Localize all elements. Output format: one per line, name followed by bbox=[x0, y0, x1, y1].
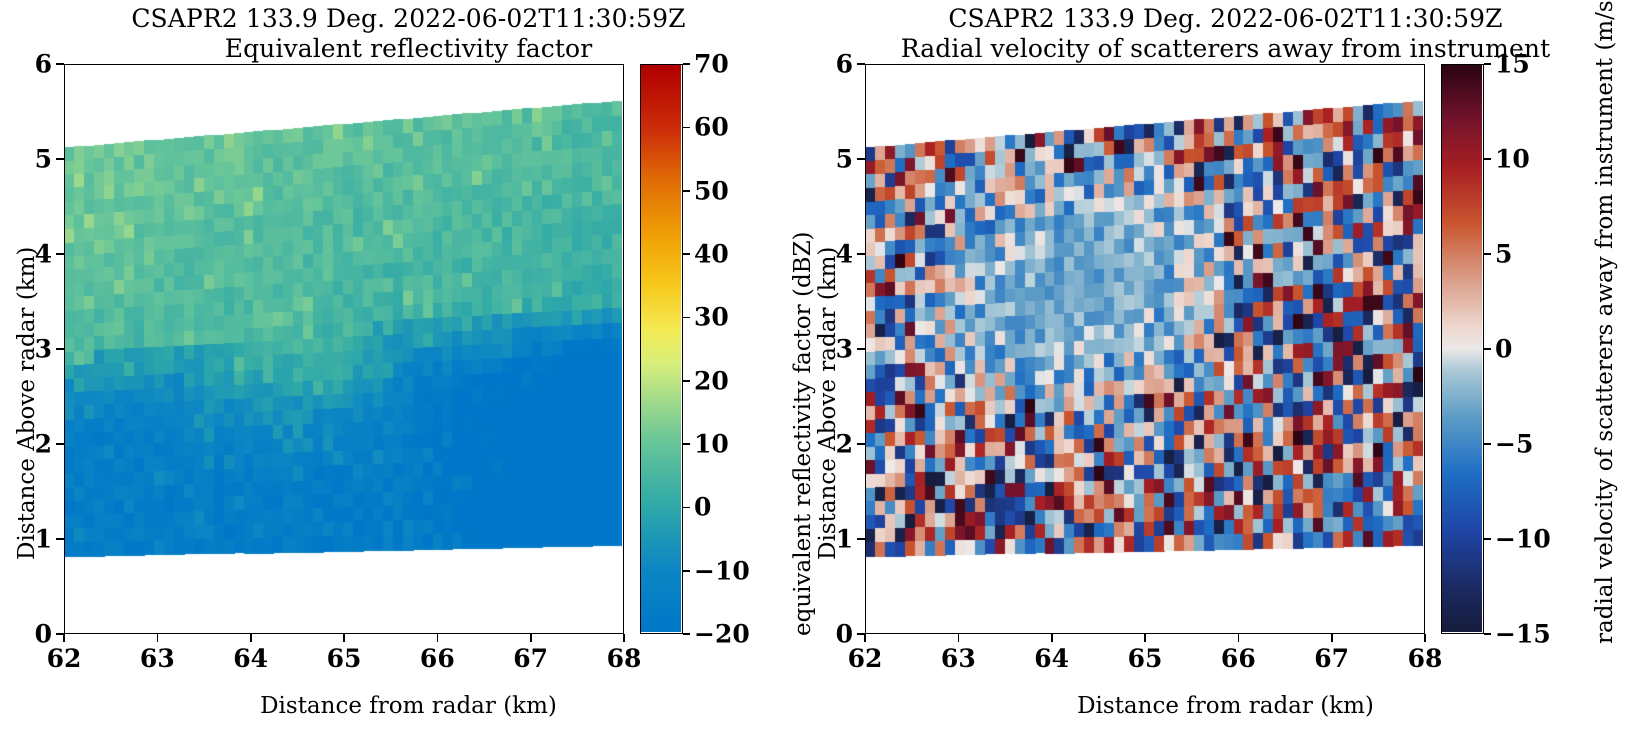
y-tick bbox=[56, 633, 64, 635]
y-tick bbox=[56, 253, 64, 255]
colorbar-tick bbox=[683, 317, 690, 319]
velocity-colorbar-gradient bbox=[1442, 65, 1482, 632]
y-tick-label: 5 bbox=[18, 147, 52, 172]
velocity-yaxis-label: Distance Above radar (km) bbox=[815, 247, 841, 560]
velocity-title-line1: CSAPR2 133.9 Deg. 2022-06-02T11:30:59Z bbox=[817, 4, 1634, 34]
x-tick-label: 65 bbox=[1128, 646, 1163, 671]
y-tick bbox=[857, 633, 865, 635]
x-tick-label: 67 bbox=[513, 646, 548, 671]
velocity-colorbar-label: radial velocity of scatterers away from … bbox=[1592, 0, 1618, 644]
x-tick-label: 67 bbox=[1314, 646, 1349, 671]
x-tick-label: 65 bbox=[327, 646, 362, 671]
colorbar-tick-label: 15 bbox=[1495, 52, 1530, 77]
y-tick-label: 0 bbox=[18, 622, 52, 647]
colorbar-tick-label: 60 bbox=[694, 115, 729, 140]
x-tick bbox=[63, 634, 65, 642]
colorbar-tick bbox=[1484, 348, 1491, 350]
colorbar-tick bbox=[1484, 253, 1491, 255]
y-tick bbox=[857, 348, 865, 350]
y-tick-label: 6 bbox=[18, 52, 52, 77]
colorbar-tick bbox=[683, 253, 690, 255]
y-tick-label: 5 bbox=[819, 147, 853, 172]
colorbar-tick bbox=[683, 380, 690, 382]
colorbar-tick-label: 10 bbox=[1495, 147, 1530, 172]
colorbar-tick bbox=[1484, 633, 1491, 635]
y-tick-label: 6 bbox=[819, 52, 853, 77]
colorbar-tick bbox=[683, 63, 690, 65]
velocity-heatmap bbox=[866, 65, 1423, 632]
reflectivity-yaxis-label: Distance Above radar (km) bbox=[14, 247, 40, 560]
x-tick-label: 62 bbox=[47, 646, 82, 671]
x-tick bbox=[530, 634, 532, 642]
y-tick bbox=[857, 158, 865, 160]
colorbar-tick bbox=[683, 570, 690, 572]
colorbar-tick bbox=[683, 127, 690, 129]
x-tick-label: 63 bbox=[140, 646, 175, 671]
figure-canvas: CSAPR2 133.9 Deg. 2022-06-02T11:30:59Z E… bbox=[0, 0, 1634, 752]
y-tick bbox=[56, 443, 64, 445]
velocity-colorbar[interactable] bbox=[1441, 64, 1484, 634]
y-tick-label: 0 bbox=[819, 622, 853, 647]
x-tick bbox=[1331, 634, 1333, 642]
colorbar-tick-label: 50 bbox=[694, 178, 729, 203]
x-tick-label: 62 bbox=[848, 646, 883, 671]
x-tick bbox=[343, 634, 345, 642]
colorbar-tick bbox=[683, 507, 690, 509]
velocity-xaxis-label: Distance from radar (km) bbox=[817, 693, 1634, 719]
x-tick bbox=[1144, 634, 1146, 642]
y-tick bbox=[857, 538, 865, 540]
x-tick-label: 64 bbox=[233, 646, 268, 671]
colorbar-tick bbox=[683, 443, 690, 445]
colorbar-tick bbox=[1484, 63, 1491, 65]
colorbar-tick-label: 30 bbox=[694, 305, 729, 330]
y-tick bbox=[857, 63, 865, 65]
x-tick bbox=[250, 634, 252, 642]
y-tick bbox=[857, 443, 865, 445]
colorbar-tick-label: 5 bbox=[1495, 242, 1512, 267]
reflectivity-colorbar-label: equivalent reflectivity factor (dBZ) bbox=[790, 231, 816, 636]
x-tick-label: 64 bbox=[1034, 646, 1069, 671]
colorbar-tick-label: 0 bbox=[1495, 337, 1512, 362]
reflectivity-colorbar[interactable] bbox=[640, 64, 683, 634]
colorbar-tick-label: −10 bbox=[1495, 527, 1551, 552]
y-tick bbox=[56, 538, 64, 540]
x-tick bbox=[623, 634, 625, 642]
x-tick bbox=[1238, 634, 1240, 642]
colorbar-tick-label: 0 bbox=[694, 495, 711, 520]
reflectivity-heatmap bbox=[65, 65, 622, 632]
colorbar-tick-label: 20 bbox=[694, 368, 729, 393]
reflectivity-axes[interactable] bbox=[64, 64, 624, 634]
x-tick-label: 66 bbox=[1221, 646, 1256, 671]
panel-reflectivity: CSAPR2 133.9 Deg. 2022-06-02T11:30:59Z E… bbox=[0, 0, 817, 752]
colorbar-tick bbox=[1484, 443, 1491, 445]
colorbar-tick-label: 70 bbox=[694, 52, 729, 77]
colorbar-tick-label: 40 bbox=[694, 242, 729, 267]
y-tick bbox=[857, 253, 865, 255]
colorbar-tick bbox=[1484, 538, 1491, 540]
colorbar-tick-label: −10 bbox=[694, 558, 750, 583]
colorbar-tick bbox=[683, 633, 690, 635]
y-tick bbox=[56, 348, 64, 350]
x-tick bbox=[864, 634, 866, 642]
colorbar-tick-label: 10 bbox=[694, 432, 729, 457]
x-tick bbox=[157, 634, 159, 642]
colorbar-tick-label: −5 bbox=[1495, 432, 1533, 457]
x-tick bbox=[958, 634, 960, 642]
x-tick bbox=[1424, 634, 1426, 642]
colorbar-tick bbox=[1484, 158, 1491, 160]
x-tick bbox=[437, 634, 439, 642]
y-tick bbox=[56, 158, 64, 160]
y-tick bbox=[56, 63, 64, 65]
x-tick-label: 68 bbox=[607, 646, 642, 671]
colorbar-tick bbox=[683, 190, 690, 192]
x-tick-label: 68 bbox=[1408, 646, 1443, 671]
velocity-axes[interactable] bbox=[865, 64, 1425, 634]
reflectivity-xaxis-label: Distance from radar (km) bbox=[0, 693, 817, 719]
colorbar-tick-label: −20 bbox=[694, 622, 750, 647]
x-tick-label: 63 bbox=[941, 646, 976, 671]
colorbar-tick-label: −15 bbox=[1495, 622, 1551, 647]
panel-velocity: CSAPR2 133.9 Deg. 2022-06-02T11:30:59Z R… bbox=[817, 0, 1634, 752]
x-tick bbox=[1051, 634, 1053, 642]
reflectivity-colorbar-gradient bbox=[641, 65, 681, 632]
x-tick-label: 66 bbox=[420, 646, 455, 671]
reflectivity-title-line1: CSAPR2 133.9 Deg. 2022-06-02T11:30:59Z bbox=[0, 4, 817, 34]
